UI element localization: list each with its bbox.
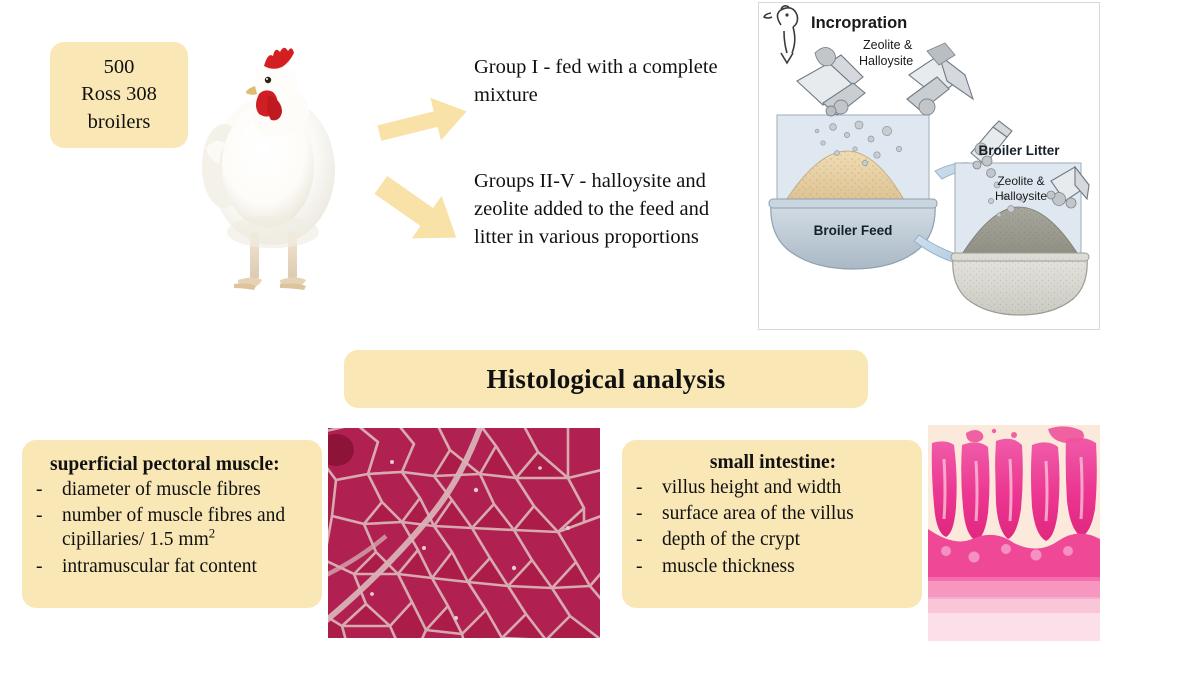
small-intestine-micrograph xyxy=(928,425,1100,641)
banner-title: Histological analysis xyxy=(487,364,726,395)
list-item: - surface area of the villus xyxy=(636,502,910,526)
small-intestine-heading: small intestine: xyxy=(636,452,910,474)
dash-bullet: - xyxy=(36,555,62,579)
group-1-description: Group I - fed with a complete mixture xyxy=(474,54,724,110)
dash-bullet: - xyxy=(636,528,662,552)
chicken-head-icon xyxy=(764,6,798,63)
feed-litter-diagram: Incropration Broiler Feed xyxy=(758,2,1100,330)
list-item-text: villus height and width xyxy=(662,476,910,500)
subject-type-line: broilers xyxy=(81,109,157,136)
dash-bullet: - xyxy=(36,504,62,528)
pectoral-muscle-micrograph xyxy=(328,428,600,638)
list-item-text: surface area of the villus xyxy=(662,502,910,526)
broiler-chicken-photo xyxy=(176,18,366,310)
list-item-text: depth of the crypt xyxy=(662,528,910,552)
list-item: - depth of the crypt xyxy=(636,528,910,552)
additive-label-right-line-1: Zeolite & xyxy=(997,174,1044,188)
pectoral-muscle-list: - diameter of muscle fibres - number of … xyxy=(36,478,310,579)
diagram-title: Incropration xyxy=(811,14,907,32)
list-item: - villus height and width xyxy=(636,476,910,500)
feed-label: Broiler Feed xyxy=(814,223,893,238)
pectoral-muscle-panel: superficial pectoral muscle: - diameter … xyxy=(22,440,322,608)
list-item-text: diameter of muscle fibres xyxy=(62,478,310,502)
small-intestine-list: - villus height and width - surface area… xyxy=(636,476,910,579)
histological-analysis-banner: Histological analysis xyxy=(344,350,868,408)
litter-label: Broiler Litter xyxy=(978,143,1060,158)
list-item: - diameter of muscle fibres xyxy=(36,478,310,502)
additive-label-top-line-1: Zeolite & xyxy=(863,38,913,52)
dash-bullet: - xyxy=(636,502,662,526)
small-intestine-panel: small intestine: - villus height and wid… xyxy=(622,440,922,608)
list-item: - intramuscular fat content xyxy=(36,555,310,579)
list-item-text: number of muscle fibres and cipillaries/… xyxy=(62,505,285,550)
group-2-description: Groups II-V - halloysite and zeolite add… xyxy=(474,168,732,252)
additive-label-right-line-2: Halloysite xyxy=(995,189,1047,203)
list-item-text: muscle thickness xyxy=(662,555,910,579)
subject-breed-line: Ross 308 xyxy=(81,81,157,108)
additive-label-top-line-2: Halloysite xyxy=(859,54,913,68)
dash-bullet: - xyxy=(636,555,662,579)
arrow-to-group-2 xyxy=(366,172,476,254)
list-item-superscript: 2 xyxy=(209,527,215,541)
list-item: - muscle thickness xyxy=(636,555,910,579)
list-item: - number of muscle fibres and cipillarie… xyxy=(36,504,310,552)
dash-bullet: - xyxy=(636,476,662,500)
pectoral-muscle-heading: superficial pectoral muscle: xyxy=(36,454,310,476)
subject-count-box: 500 Ross 308 broilers xyxy=(50,42,188,148)
list-item-text: intramuscular fat content xyxy=(62,555,310,579)
subject-count-line-1: 500 xyxy=(81,54,157,81)
dash-bullet: - xyxy=(36,478,62,502)
arrow-to-group-1 xyxy=(372,80,477,150)
